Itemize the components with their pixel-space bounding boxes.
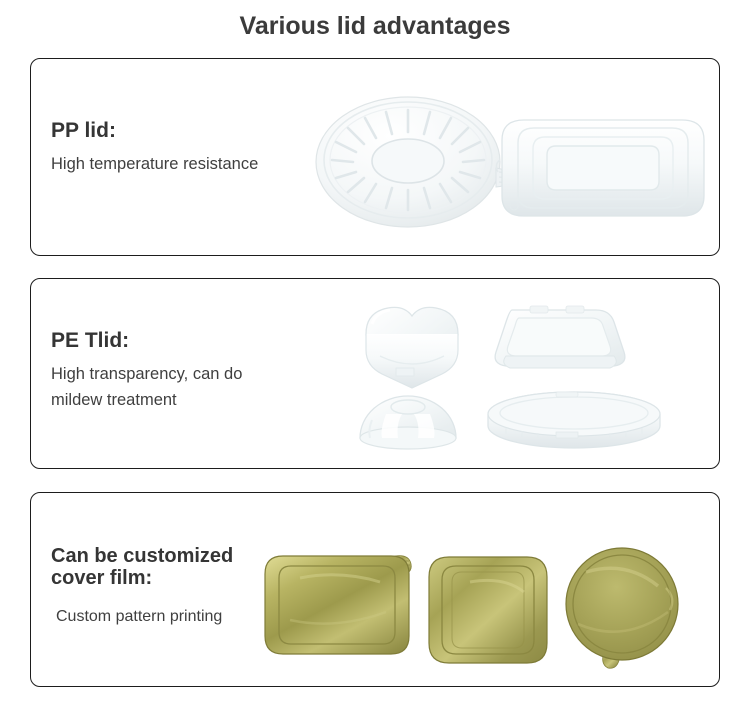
panel-pp-lid: PP lid: High temperature resistance	[30, 58, 720, 256]
panel-pet-lid-text: PE Tlid: High transparency, can do milde…	[51, 329, 242, 414]
panel-pet-lid-subtitle: High transparency, can do mildew treatme…	[51, 361, 242, 414]
panel-pp-lid-text: PP lid: High temperature resistance	[51, 119, 258, 177]
panel-cover-film-heading: Can be customized cover film:	[51, 545, 233, 590]
panel-pet-lid: PE Tlid: High transparency, can do milde…	[30, 278, 720, 469]
panel-pet-lid-heading: PE Tlid:	[51, 329, 242, 353]
panel-pp-lid-heading: PP lid:	[51, 119, 258, 143]
panel-cover-film: Can be customized cover film: Custom pat…	[30, 492, 720, 687]
panel-cover-film-subtitle: Custom pattern printing	[51, 604, 233, 630]
page-title: Various lid advantages	[0, 12, 750, 41]
panel-pp-lid-subtitle: High temperature resistance	[51, 151, 258, 178]
panel-cover-film-text: Can be customized cover film: Custom pat…	[51, 545, 233, 630]
